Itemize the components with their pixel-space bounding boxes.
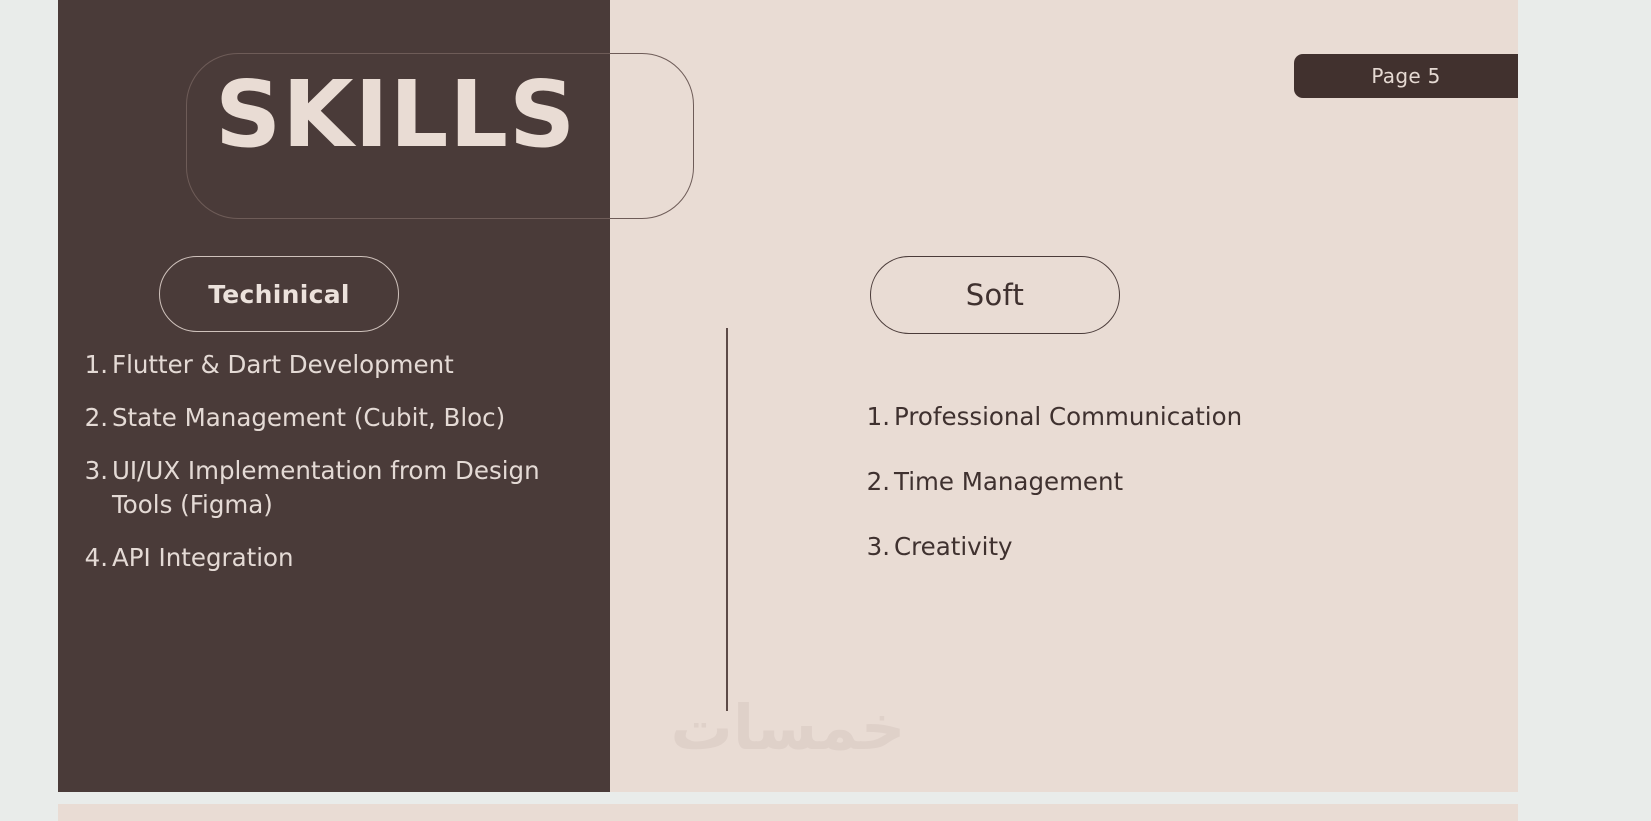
list-item-number: 4. [76,541,108,576]
list-item: 1.Professional Communication [858,400,1378,435]
list-item-text: Flutter & Dart Development [108,348,596,383]
slide-canvas: SKILLS Techinical 1.Flutter & Dart Devel… [58,0,1518,792]
list-item-text: Creativity [890,530,1378,565]
slide-viewer: SKILLS Techinical 1.Flutter & Dart Devel… [0,0,1651,821]
list-item-number: 2. [76,401,108,436]
list-item: 3.Creativity [858,530,1378,565]
list-item-number: 2. [858,465,890,500]
list-item-text: Professional Communication [890,400,1378,435]
list-item: 4.API Integration [76,541,596,576]
technical-pill-label: Techinical [208,280,350,309]
vertical-divider [726,328,728,711]
page-title: SKILLS [215,69,576,161]
list-item-number: 3. [76,454,108,489]
list-item-number: 3. [858,530,890,565]
list-item-number: 1. [76,348,108,383]
page-number-label: Page 5 [1371,64,1440,88]
soft-skills-list: 1.Professional Communication2.Time Manag… [858,400,1378,594]
list-item: 2.Time Management [858,465,1378,500]
list-item-text: API Integration [108,541,596,576]
page-number-badge: Page 5 [1294,54,1518,98]
list-item-text: State Management (Cubit, Bloc) [108,401,596,436]
technical-skills-list: 1.Flutter & Dart Development2.State Mana… [76,348,596,594]
list-item-number: 1. [858,400,890,435]
list-item: 3.UI/UX Implementation from Design Tools… [76,454,596,524]
list-item-text: Time Management [890,465,1378,500]
list-item-text: UI/UX Implementation from Design Tools (… [108,454,596,524]
technical-skills-pill[interactable]: Techinical [159,256,399,332]
list-item: 2.State Management (Cubit, Bloc) [76,401,596,436]
soft-skills-pill[interactable]: Soft [870,256,1120,334]
list-item: 1.Flutter & Dart Development [76,348,596,383]
soft-pill-label: Soft [966,278,1024,312]
next-slide-preview[interactable] [58,804,1518,821]
